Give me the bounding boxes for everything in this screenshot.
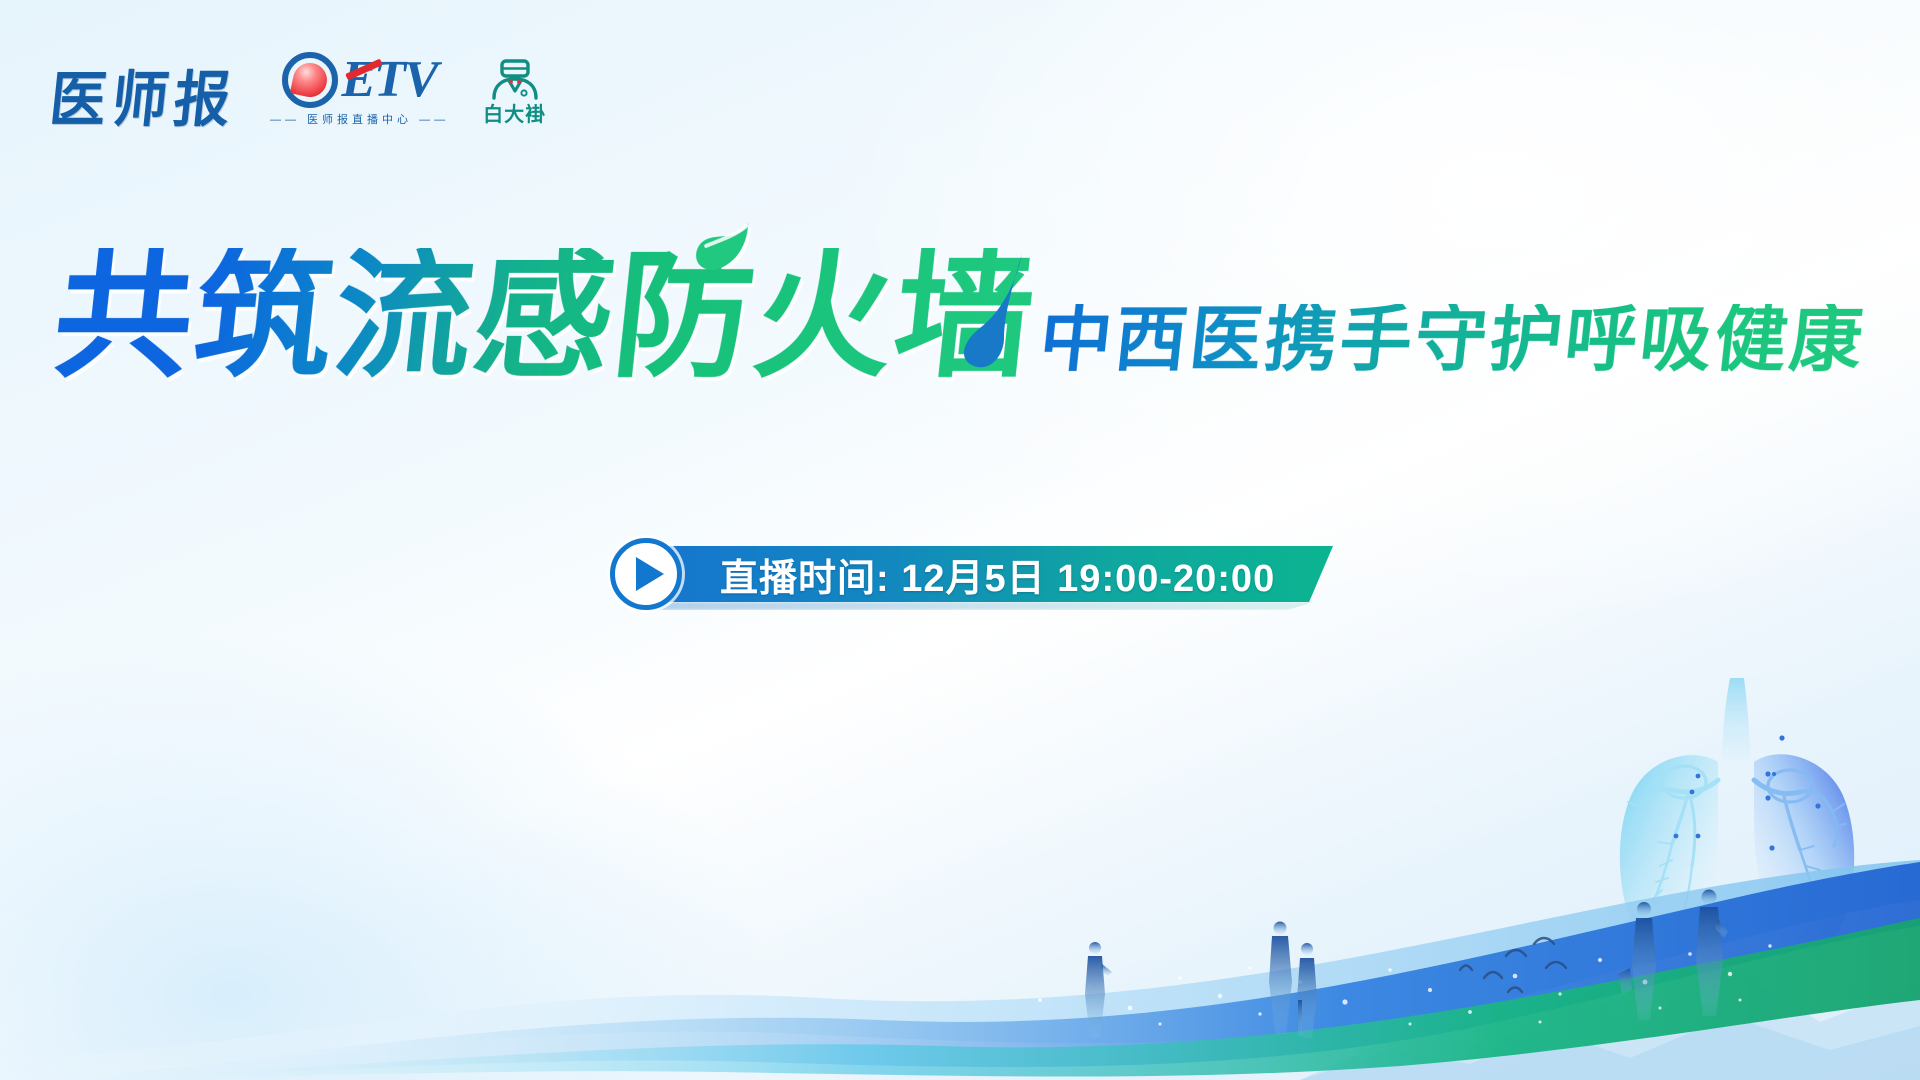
title-block: 共筑流感防火墙 中西医携手守护呼吸健康	[0, 248, 1920, 386]
title-sub-wrap: 中西医携手守护呼吸健康	[1040, 304, 1865, 376]
doctor-figure-icon	[484, 58, 546, 104]
title-main-text: 共筑流感防火墙	[47, 240, 1043, 394]
etv-logo-row: ETV	[282, 52, 436, 108]
logo-bar: 医师报 ETV —— 医师报直播中心 ——	[50, 52, 546, 129]
etv-play-disc-icon	[282, 52, 338, 108]
poster-canvas: 医师报 ETV —— 医师报直播中心 ——	[0, 0, 1920, 1080]
play-triangle-icon	[636, 557, 664, 591]
page-title: 共筑流感防火墙	[48, 248, 1043, 386]
live-time-text: 直播时间: 12月5日 19:00-20:00	[720, 546, 1275, 602]
live-time-banner: 直播时间: 12月5日 19:00-20:00	[610, 546, 1333, 602]
etv-wordmark-text: ETV	[341, 51, 436, 108]
lungs-illustration	[1572, 670, 1902, 970]
banner-shadow	[654, 602, 1314, 610]
page-subtitle: 中西医携手守护呼吸健康	[1036, 304, 1869, 376]
baidagua-logo: 白大褂	[483, 58, 546, 129]
etv-logo: ETV —— 医师报直播中心 ——	[270, 52, 449, 129]
yishibao-logo: 医师报	[47, 71, 239, 131]
etv-subtitle: —— 医师报直播中心 ——	[270, 111, 449, 127]
play-icon[interactable]	[610, 538, 682, 610]
water-droplet-icon	[952, 252, 1036, 370]
etv-wordmark: ETV	[341, 54, 436, 106]
